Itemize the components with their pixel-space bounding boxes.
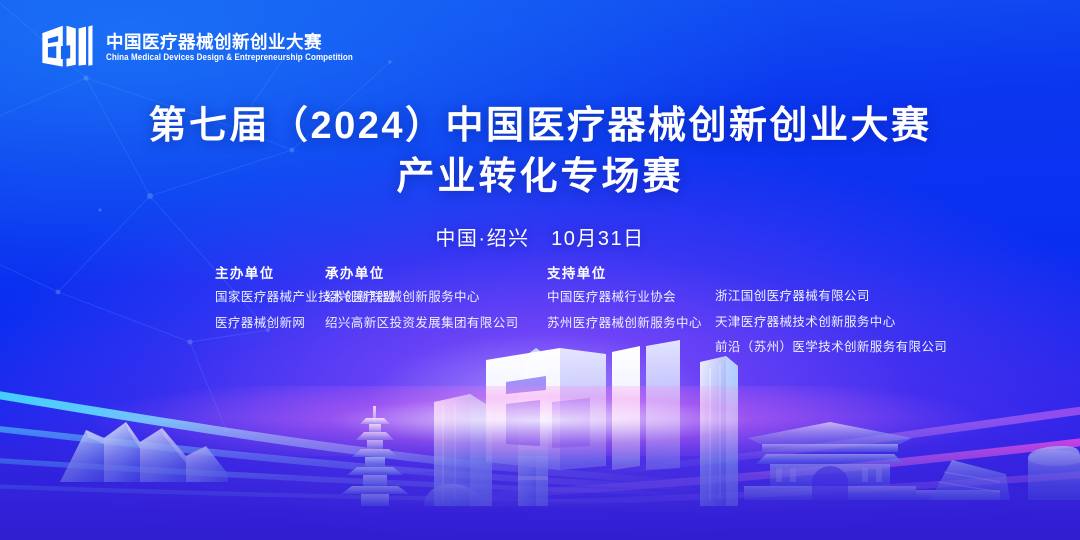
organizer-item: 国家医疗器械产业技术创新联盟 [215, 291, 325, 304]
organizer-item: 天津医疗器械技术创新服务中心 [715, 316, 983, 329]
organizer-item: 医疗器械创新网 [215, 317, 325, 330]
location-date: 中国·绍兴 10月31日 [0, 222, 1080, 251]
page-title-line2: 产业转化专场赛 [0, 155, 1080, 200]
poster-canvas: 中国医疗器械创新创业大赛 China Medical Devices Desig… [0, 0, 1080, 540]
brand-name-en: China Medical Devices Design & Entrepren… [106, 53, 353, 62]
organizer-heading: 支持单位 [547, 262, 715, 282]
brand-name-cn: 中国医疗器械创新创业大赛 [106, 34, 353, 52]
organizer-item: 浙江国创医疗器械有限公司 [715, 290, 983, 303]
organizer-heading: 承办单位 [325, 262, 547, 282]
headline-block: 第七届（2024）中国医疗器械创新创业大赛 产业转化专场赛 中国·绍兴 10月3… [0, 104, 1080, 251]
organizer-item: 苏州医疗器械创新服务中心 [547, 317, 715, 330]
organizer-column-support: 支持单位 中国医疗器械行业协会 苏州医疗器械创新服务中心 [547, 262, 715, 354]
brand-logo-bar: 中国医疗器械创新创业大赛 China Medical Devices Desig… [38, 22, 353, 74]
organizer-item: 绍兴医疗器械创新服务中心 [325, 291, 547, 304]
organizers-block: 主办单位 国家医疗器械产业技术创新联盟 医疗器械创新网 承办单位 绍兴医疗器械创… [0, 262, 1080, 354]
organizer-item: 前沿（苏州）医学技术创新服务有限公司 [715, 341, 983, 354]
floor-gradient-decoration [0, 420, 1080, 540]
organizer-item: 绍兴高新区投资发展集团有限公司 [325, 317, 547, 330]
organizer-item: 中国医疗器械行业协会 [547, 291, 715, 304]
page-title-line1: 第七届（2024）中国医疗器械创新创业大赛 [0, 104, 1080, 149]
open-book-door-logo-icon [38, 22, 95, 74]
organizer-heading: 主办单位 [215, 262, 325, 282]
organizer-column-coorganizer: 承办单位 绍兴医疗器械创新服务中心 绍兴高新区投资发展集团有限公司 [325, 262, 547, 354]
organizer-column-support-extra: 浙江国创医疗器械有限公司 天津医疗器械技术创新服务中心 前沿（苏州）医学技术创新… [715, 262, 983, 354]
organizer-column-host: 主办单位 国家医疗器械产业技术创新联盟 医疗器械创新网 [97, 262, 325, 354]
horizon-glow-decoration [0, 386, 1080, 456]
logo-sculpture [486, 340, 680, 470]
